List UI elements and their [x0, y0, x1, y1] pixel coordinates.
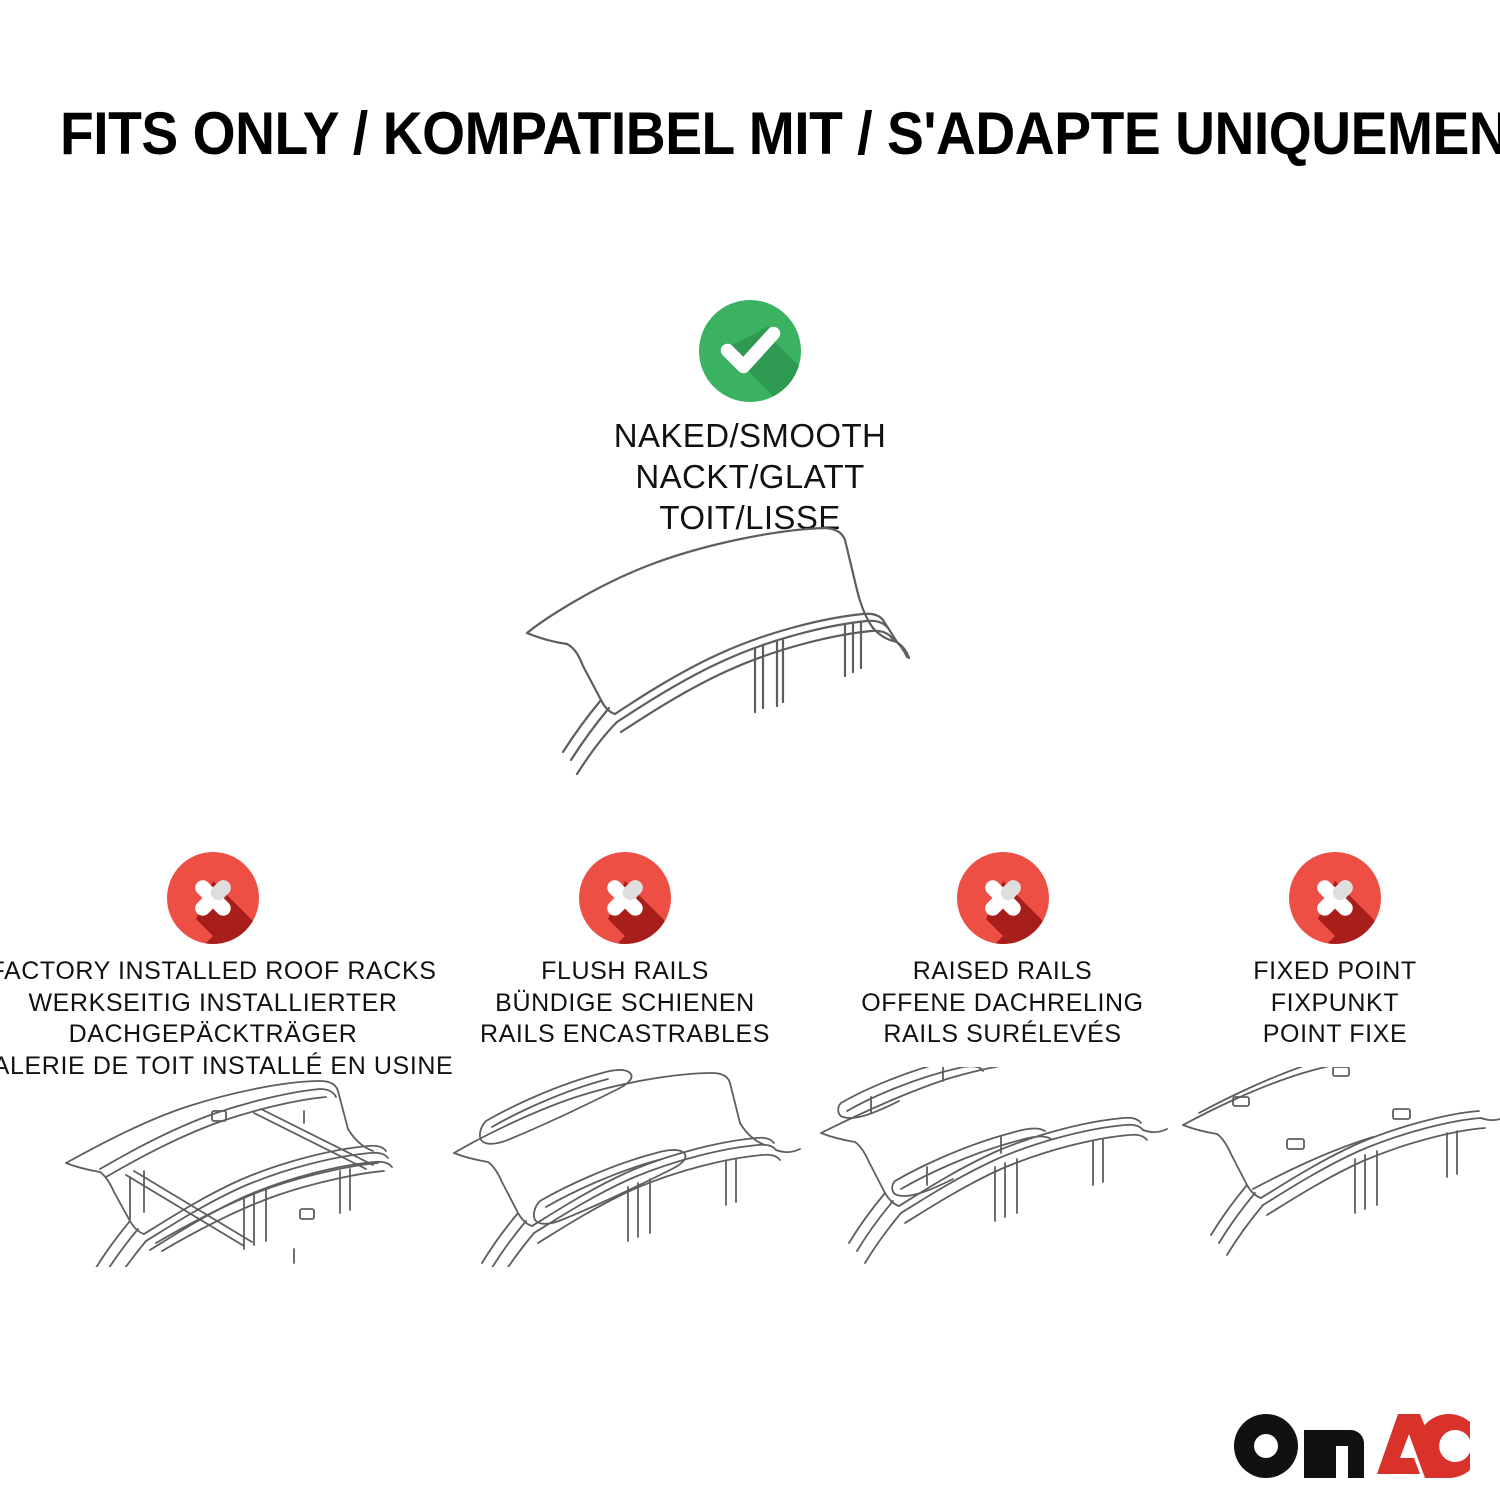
omac-logo: OM AC: [1232, 1412, 1472, 1480]
raised-rails-illustration: [815, 1067, 1205, 1272]
x-circle-icon: [1289, 852, 1381, 944]
fixed-point-illustration: [1175, 1067, 1500, 1272]
excluded-label-line-2: FIXPUNKT: [1253, 988, 1417, 1020]
excluded-label-line-3: RAILS ENCASTRABLES: [480, 1019, 770, 1051]
excluded-roof-types-row: FACTORY INSTALLED ROOF RACKS WERKSEITIG …: [0, 852, 1500, 1272]
factory-roof-rack-illustration: [48, 1067, 438, 1272]
x-circle-icon: [579, 852, 671, 944]
excluded-col-fixed-point: FIXED POINT FIXPUNKT POINT FIXE: [1185, 852, 1485, 1051]
approved-label-line-2: NACKT/GLATT: [614, 457, 887, 498]
excluded-label-stack: FACTORY INSTALLED ROOF RACKS WERKSEITIG …: [0, 956, 453, 1082]
x-circle-icon: [957, 852, 1049, 944]
excluded-col-factory-roof-racks: FACTORY INSTALLED ROOF RACKS WERKSEITIG …: [8, 852, 418, 1082]
excluded-label-stack: FLUSH RAILS BÜNDIGE SCHIENEN RAILS ENCAS…: [480, 956, 770, 1051]
approved-roof-type-block: NAKED/SMOOTH NACKT/GLATT TOIT/LISSE: [0, 300, 1500, 539]
excluded-label-line-2: WERKSEITIG INSTALLIERTER: [0, 988, 453, 1020]
excluded-label-stack: FIXED POINT FIXPUNKT POINT FIXE: [1253, 956, 1417, 1051]
omac-logo-mark: [1232, 1412, 1472, 1480]
flush-rails-illustration: [440, 1067, 830, 1272]
smooth-roof-illustration: [505, 516, 1005, 806]
approved-label-line-1: NAKED/SMOOTH: [614, 416, 887, 457]
check-circle-icon: [699, 300, 801, 402]
excluded-col-flush-rails: FLUSH RAILS BÜNDIGE SCHIENEN RAILS ENCAS…: [460, 852, 790, 1051]
excluded-label-stack: RAISED RAILS OFFENE DACHRELING RAILS SUR…: [861, 956, 1143, 1051]
excluded-label-line-2: OFFENE DACHRELING: [861, 988, 1143, 1020]
excluded-label-line-3: POINT FIXE: [1253, 1019, 1417, 1051]
excluded-label-line-2: BÜNDIGE SCHIENEN: [480, 988, 770, 1020]
x-circle-icon: [167, 852, 259, 944]
excluded-label-line-1: FIXED POINT: [1253, 956, 1417, 988]
excluded-label-line-3: RAILS SURÉLEVÉS: [861, 1019, 1143, 1051]
excluded-label-line-3: DACHGEPÄCKTRÄGER: [0, 1019, 453, 1051]
page-title: FITS ONLY / KOMPATIBEL MIT / S'ADAPTE UN…: [60, 104, 1440, 164]
excluded-label-line-1: RAISED RAILS: [861, 956, 1143, 988]
excluded-label-line-1: FLUSH RAILS: [480, 956, 770, 988]
excluded-col-raised-rails: RAISED RAILS OFFENE DACHRELING RAILS SUR…: [830, 852, 1175, 1051]
excluded-label-line-1: FACTORY INSTALLED ROOF RACKS: [0, 956, 453, 988]
